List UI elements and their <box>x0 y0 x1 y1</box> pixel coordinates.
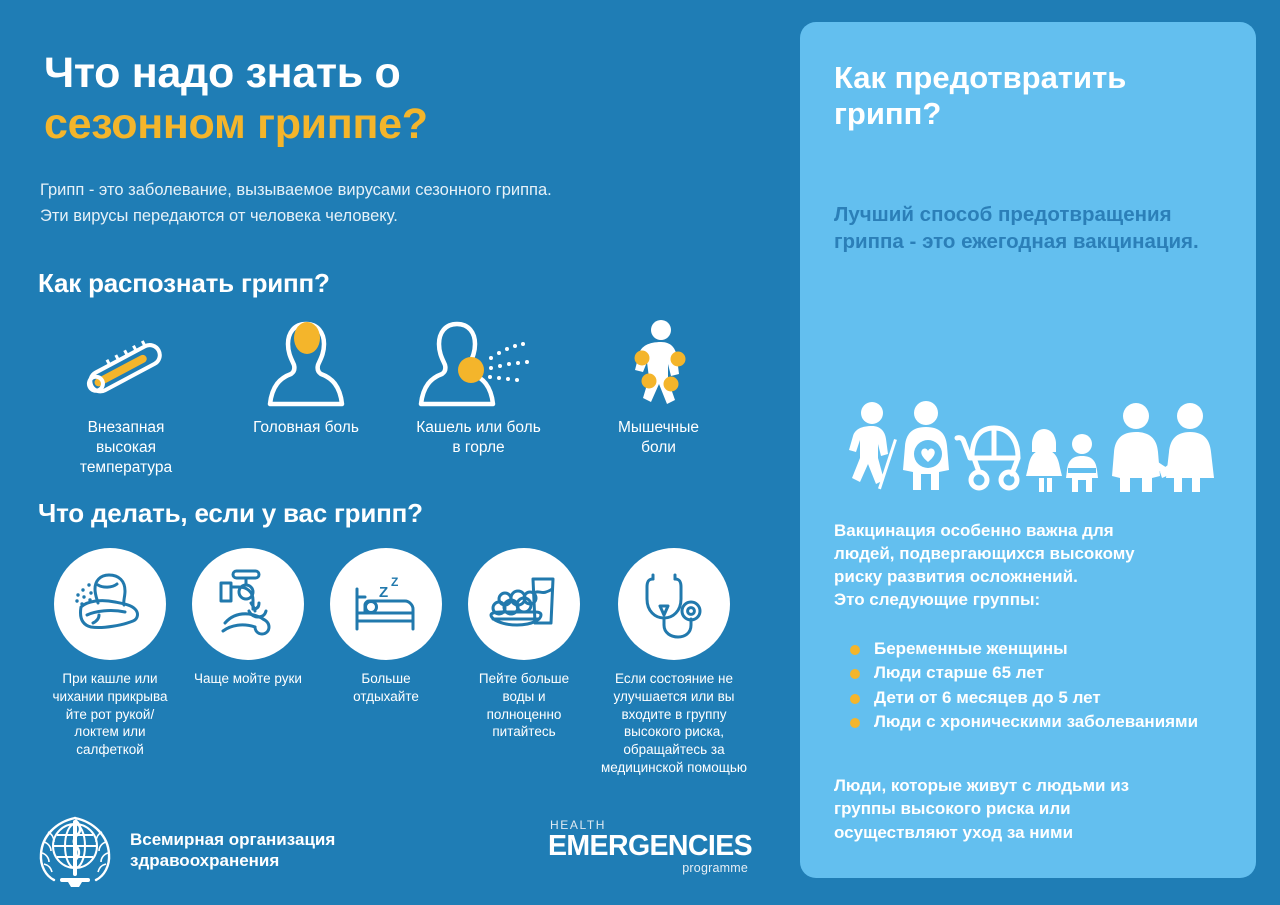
advice-item-seek-care: Если состояние неулучшается или вывходит… <box>590 548 758 777</box>
intro-line-1: Грипп - это заболевание, вызываемое виру… <box>40 178 740 204</box>
advice-item-cover-cough: При кашле иличихании прикрывайте рот рук… <box>42 548 178 759</box>
thermometer-icon <box>46 318 206 410</box>
he-emergencies-label: EMERGENCIES <box>548 833 748 860</box>
flu-infographic-poster: Что надо знать о сезонном гриппе? Грипп … <box>0 0 1280 905</box>
symptom-item-headache: Головная боль <box>221 318 391 438</box>
risk-groups-list: Беременные женщины Люди старше 65 лет Де… <box>844 638 1244 736</box>
advice-item-eat-drink: Пейте большеводы иполноценнопитайтесь <box>456 548 592 741</box>
risk-group-people-illustration <box>842 400 1222 496</box>
stethoscope-icon <box>631 561 717 647</box>
prevention-lead: Лучший способ предотвращения гриппа - эт… <box>834 202 1244 255</box>
section-heading-recognize: Как распознать грипп? <box>38 268 330 299</box>
prevention-body-line-3: риску развития осложнений. <box>834 566 1244 589</box>
prevention-lead-line-1: Лучший способ <box>834 203 992 226</box>
prevention-foot-line-3: осуществляют уход за ними <box>834 821 1244 844</box>
risk-group-label: Дети от 6 месяцев до 5 лет <box>874 688 1101 707</box>
svg-text:Z: Z <box>391 575 398 589</box>
headache-person-icon <box>221 318 391 410</box>
bullet-dot-icon <box>850 645 860 655</box>
rest-bed-icon: Z Z <box>343 561 429 647</box>
adult-man-icon <box>1112 403 1174 492</box>
who-logo-block: Всемирная организация здравоохранения <box>32 812 335 888</box>
advice-caption: Чаще мойте руки <box>180 670 316 688</box>
muscle-pain-person-icon <box>576 318 741 410</box>
page-title: Что надо знать о сезонном гриппе? <box>44 48 764 149</box>
prevention-foot-line-2: группы высокого риска или <box>834 797 1244 820</box>
wash-hands-icon <box>205 561 291 647</box>
baby-stroller-icon <box>957 428 1018 488</box>
symptoms-row: Внезапнаявысокаятемпература Головная бол… <box>36 318 766 483</box>
cover-cough-icon <box>67 561 153 647</box>
symptom-caption: Кашель или больв горле <box>391 418 566 458</box>
advice-caption: Пейте большеводы иполноценнопитайтесь <box>456 670 592 741</box>
advice-caption: При кашле иличихании прикрывайте рот рук… <box>42 670 178 759</box>
advice-bubble <box>618 548 730 660</box>
advice-row: При кашле иличихании прикрывайте рот рук… <box>34 548 774 848</box>
left-column: Что надо знать о сезонном гриппе? Грипп … <box>0 0 800 905</box>
intro-paragraph: Грипп - это заболевание, вызываемое виру… <box>40 178 740 229</box>
who-organization-name: Всемирная организация здравоохранения <box>130 829 335 872</box>
risk-group-label: Беременные женщины <box>874 639 1068 658</box>
symptom-caption: Мышечныеболи <box>576 418 741 458</box>
prevention-body-line-2: людей, подвергающихся высокому <box>834 543 1244 566</box>
symptom-item-muscle-pain: Мышечныеболи <box>576 318 741 458</box>
he-programme-label: programme <box>548 861 748 875</box>
who-emblem-icon <box>32 812 118 888</box>
symptom-caption: Внезапнаявысокаятемпература <box>46 418 206 477</box>
page-title-line-1: Что надо знать о <box>44 48 764 99</box>
risk-group-label: Люди старше 65 лет <box>874 663 1044 682</box>
bullet-dot-icon <box>850 718 860 728</box>
section-heading-whattodo: Что делать, если у вас грипп? <box>38 498 423 529</box>
prevention-title: Как предотвратить грипп? <box>834 60 1238 131</box>
symptom-caption: Головная боль <box>221 418 391 438</box>
cough-sore-throat-icon <box>391 318 566 410</box>
risk-group-label: Люди с хроническими заболеваниями <box>874 712 1198 731</box>
list-item: Люди с хроническими заболеваниями <box>844 711 1244 733</box>
list-item: Беременные женщины <box>844 638 1244 660</box>
prevention-body-line-4: Это следующие группы: <box>834 589 1244 612</box>
advice-item-wash-hands: Чаще мойте руки <box>180 548 316 688</box>
advice-item-rest: Z Z Большеотдыхайте <box>318 548 454 706</box>
bullet-dot-icon <box>850 669 860 679</box>
prevention-panel: Как предотвратить грипп? Лучший способ п… <box>800 22 1256 878</box>
boy-child-icon <box>1066 434 1098 492</box>
intro-line-2: Эти вирусы передаются от человека челове… <box>40 204 740 230</box>
list-item: Люди старше 65 лет <box>844 662 1244 684</box>
pregnant-woman-icon <box>903 401 949 490</box>
eat-drink-icon <box>481 561 567 647</box>
adult-woman-icon <box>1160 403 1214 492</box>
prevention-lead-line-3: это ежегодная вакцинация. <box>922 230 1199 253</box>
advice-caption: Если состояние неулучшается или вывходит… <box>590 670 758 777</box>
prevention-body-line-1: Вакцинация особенно важна для <box>834 520 1244 543</box>
prevention-foot-line-1: Люди, которые живут с людьми из <box>834 774 1244 797</box>
prevention-body: Вакцинация особенно важна для людей, под… <box>834 520 1244 612</box>
symptom-item-fever: Внезапнаявысокаятемпература <box>46 318 206 477</box>
symptom-item-cough: Кашель или больв горле <box>391 318 566 458</box>
advice-bubble <box>192 548 304 660</box>
advice-caption: Большеотдыхайте <box>318 670 454 706</box>
person-with-cane-icon <box>849 402 897 489</box>
advice-bubble: Z Z <box>330 548 442 660</box>
who-name-line-1: Всемирная организация <box>130 829 335 850</box>
page-title-line-2: сезонном гриппе? <box>44 99 764 150</box>
list-item: Дети от 6 месяцев до 5 лет <box>844 687 1244 709</box>
advice-bubble <box>54 548 166 660</box>
girl-child-icon <box>1026 429 1062 492</box>
who-name-line-2: здравоохранения <box>130 850 335 871</box>
prevention-footnote: Люди, которые живут с людьми из группы в… <box>834 774 1244 844</box>
svg-text:Z: Z <box>379 584 388 601</box>
advice-bubble <box>468 548 580 660</box>
bullet-dot-icon <box>850 694 860 704</box>
health-emergencies-logo: HEALTH EMERGENCIES programme <box>548 818 748 875</box>
